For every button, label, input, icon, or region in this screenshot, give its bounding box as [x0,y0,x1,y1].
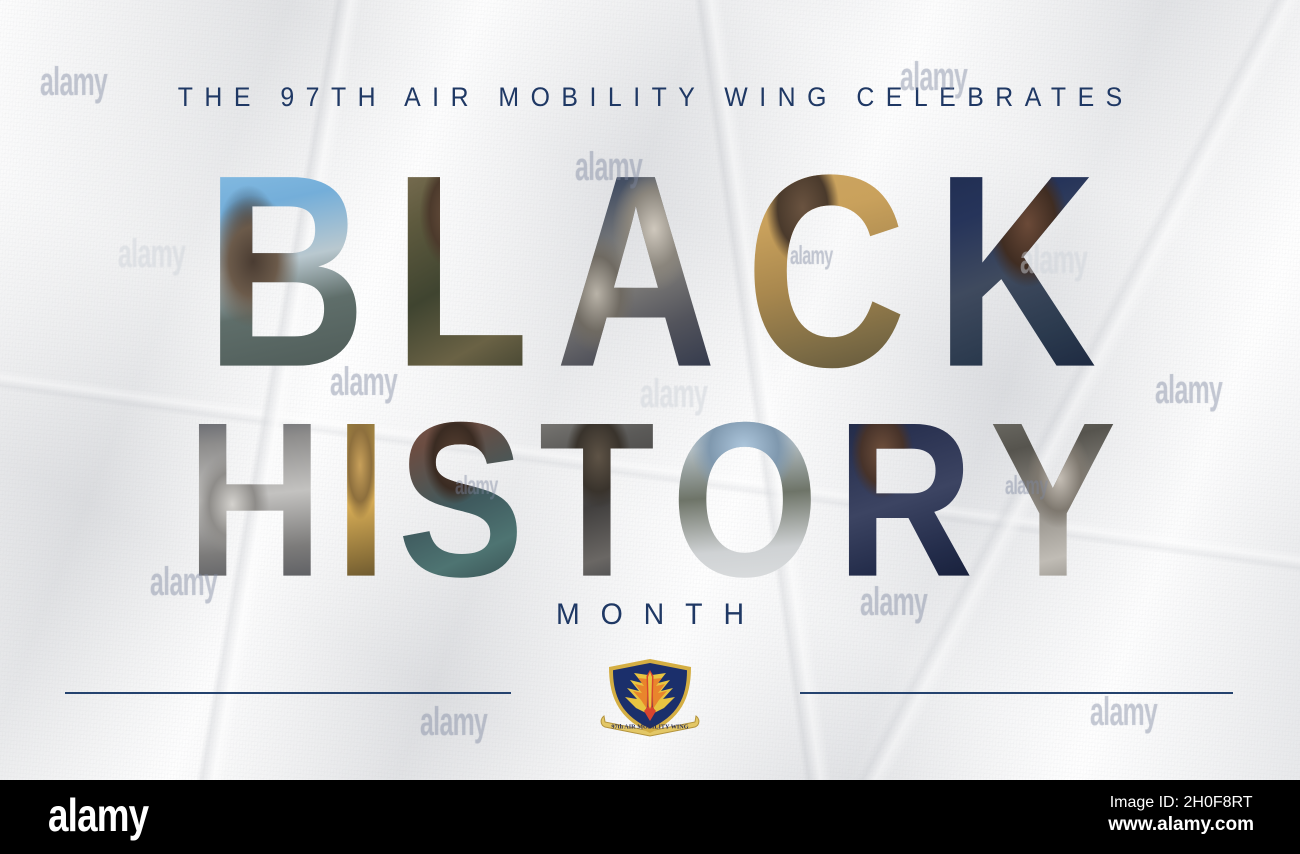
page-subtitle: MONTH [33,598,1268,632]
title-letter-t: T [539,392,653,608]
alamy-logo[interactable]: alamy [48,792,148,838]
title-line-history: H I S T O R Y [0,392,1300,604]
image-id-label: Image ID: 2H0F8RT [1108,793,1254,813]
title-letter-c: C [745,138,905,406]
alamy-url-link[interactable]: www.alamy.com [1108,813,1254,837]
title-letter-s: S [397,392,522,608]
title-letter-a: A [555,138,715,406]
title-letter-i: I [334,392,385,608]
title-letter-l: L [392,138,527,406]
title-letter-b: B [205,138,365,406]
divider-rule-left [65,692,511,694]
title-letter-r: R [836,392,972,608]
title-line-black: B L A C K [0,138,1300,399]
title-letter-y: Y [990,392,1115,608]
alamy-footer-bar: alamy Image ID: 2H0F8RT www.alamy.com [0,780,1300,854]
title-letter-o: O [671,392,817,608]
page-headline: THE 97TH AIR MOBILITY WING CELEBRATES [52,82,1248,113]
title-letter-h: H [186,392,322,608]
alamy-metadata: Image ID: 2H0F8RT www.alamy.com [1108,793,1254,838]
emblem-scroll-text: 97th AIR MOBILITY WING [611,724,688,731]
air-force-wing-emblem-icon: 97th AIR MOBILITY WING [594,653,706,745]
title-letter-k: K [936,138,1096,406]
poster-canvas: THE 97TH AIR MOBILITY WING CELEBRATES B … [0,0,1300,780]
divider-rule-right [800,692,1233,694]
